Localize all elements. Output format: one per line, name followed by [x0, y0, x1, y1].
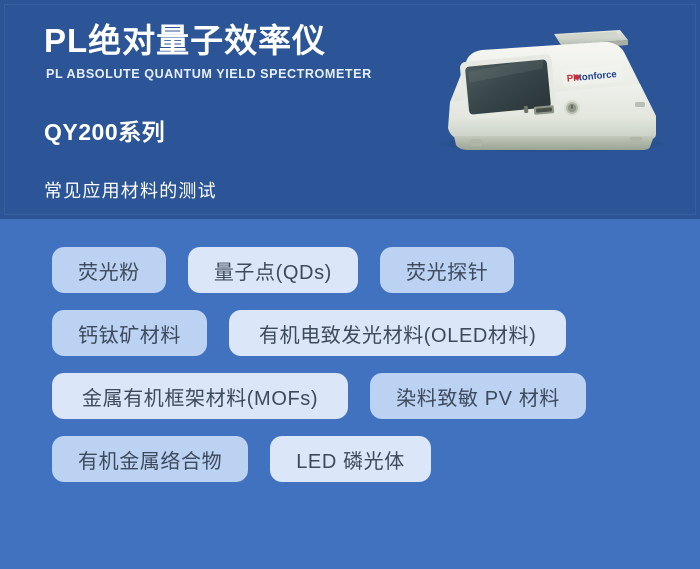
device-power-button[interactable]: [564, 100, 580, 116]
device-image: Ph tonforce: [404, 18, 686, 158]
device-vent: [635, 102, 645, 107]
page-subtitle-english: PL ABSOLUTE QUANTUM YIELD SPECTROMETER: [46, 67, 424, 81]
tag-pill[interactable]: 荧光粉: [52, 247, 166, 293]
page-title: PL绝对量子效率仪: [44, 22, 424, 61]
tag-pill[interactable]: 有机电致发光材料(OLED材料): [229, 310, 566, 356]
tag-row: 荧光粉 量子点(QDs) 荧光探针: [0, 247, 700, 293]
tag-pill[interactable]: 金属有机框架材料(MOFs): [52, 373, 348, 419]
tag-row: 有机金属络合物 LED 磷光体: [0, 436, 700, 482]
tag-pill[interactable]: 染料致敏 PV 材料: [370, 373, 586, 419]
tag-row: 金属有机框架材料(MOFs) 染料致敏 PV 材料: [0, 373, 700, 419]
tag-pill[interactable]: 量子点(QDs): [188, 247, 358, 293]
product-banner: PL绝对量子效率仪 PL ABSOLUTE QUANTUM YIELD SPEC…: [0, 0, 700, 569]
tag-pill[interactable]: LED 磷光体: [270, 436, 431, 482]
product-series-label: QY200系列: [44, 113, 424, 147]
spectrometer-illustration: Ph tonforce: [404, 18, 686, 158]
tag-pill[interactable]: 有机金属络合物: [52, 436, 248, 482]
hero-band: PL绝对量子效率仪 PL ABSOLUTE QUANTUM YIELD SPEC…: [0, 0, 700, 219]
tag-pill[interactable]: 钙钛矿材料: [52, 310, 207, 356]
device-foot-left: [470, 139, 482, 146]
device-base: [454, 136, 654, 150]
application-tag-list: 荧光粉 量子点(QDs) 荧光探针 钙钛矿材料 有机电致发光材料(OLED材料)…: [0, 219, 700, 569]
device-foot-right: [630, 137, 642, 144]
hero-text-block: PL绝对量子效率仪 PL ABSOLUTE QUANTUM YIELD SPEC…: [44, 22, 424, 203]
tag-pill[interactable]: 荧光探针: [380, 247, 514, 293]
section-heading: 常见应用材料的测试: [44, 177, 424, 203]
tag-row: 钙钛矿材料 有机电致发光材料(OLED材料): [0, 310, 700, 356]
